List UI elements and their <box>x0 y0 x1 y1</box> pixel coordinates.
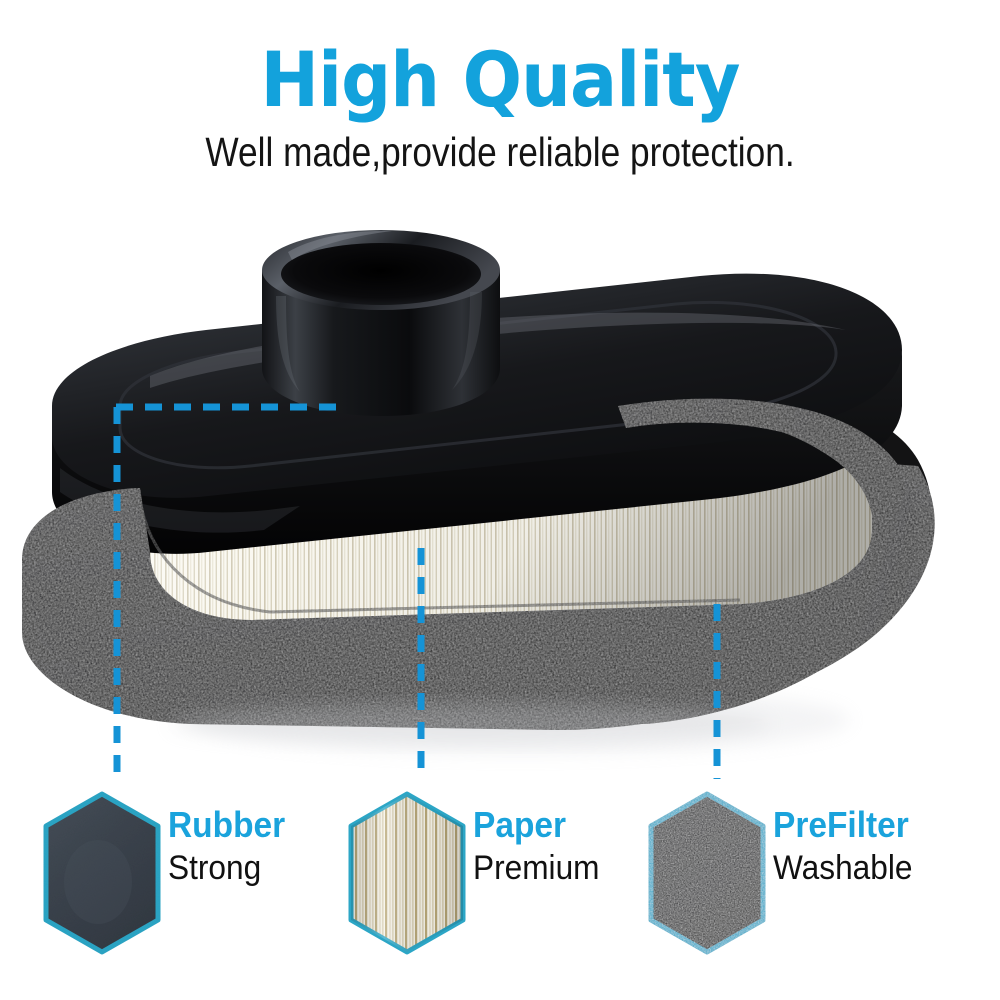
hex-swatch-prefilter <box>645 790 769 956</box>
feature-row: Rubber Strong <box>0 782 1000 972</box>
spout-bore <box>281 243 481 305</box>
hex-swatch-paper <box>345 790 469 956</box>
product-image <box>0 200 1000 800</box>
feature-title: PreFilter <box>773 804 987 846</box>
infographic-canvas: High Quality Well made,provide reliable … <box>0 0 1000 1000</box>
feature-labels-prefilter: PreFilter Washable <box>773 804 1000 888</box>
page-title: High Quality <box>40 40 960 120</box>
inlet-spout <box>262 230 500 416</box>
page-subtitle: Well made,provide reliable protection. <box>70 128 930 176</box>
feature-subtitle: Washable <box>773 848 987 888</box>
hex-swatch-rubber <box>40 790 164 956</box>
